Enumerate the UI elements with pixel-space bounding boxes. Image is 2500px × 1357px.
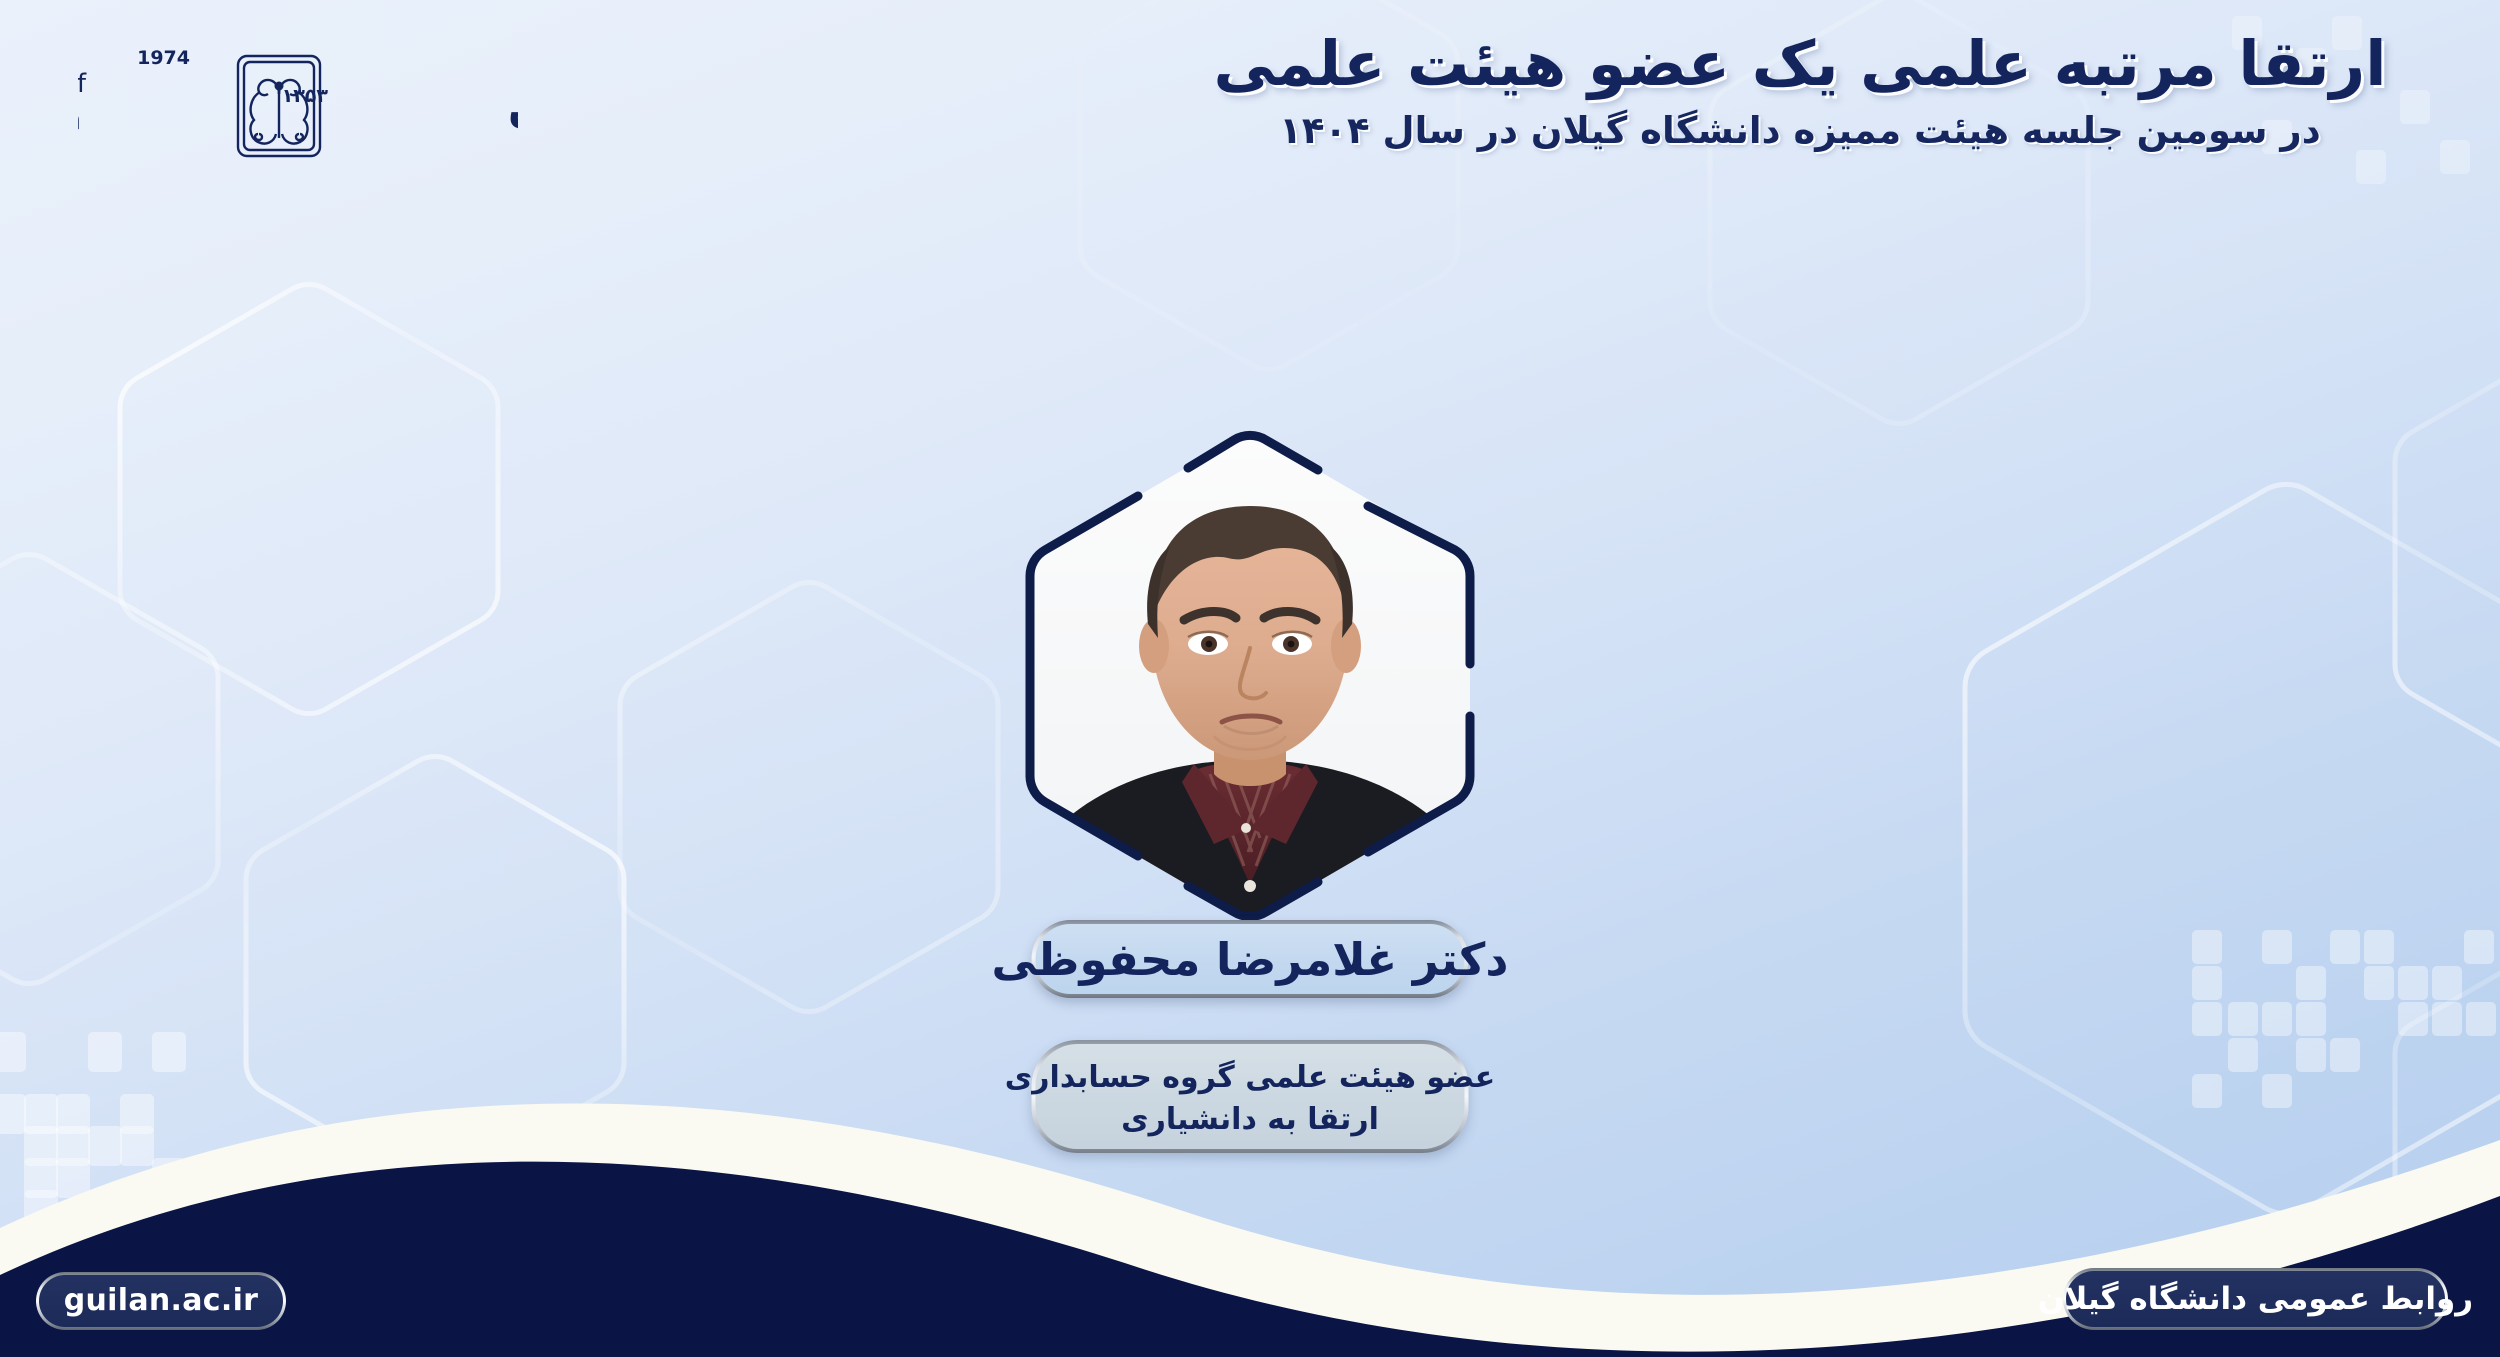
logo-year-latin: 1974	[137, 47, 190, 69]
page-subtitle: در سومین جلسه هیئت ممیزه دانشگاه گیلان د…	[1140, 109, 2460, 153]
public-relations-pill: روابط عمومی دانشگاه گیلان	[2063, 1268, 2448, 1330]
person-name-plate: دکتر غلامرضا محفوظی	[1032, 920, 1469, 998]
header-block: ارتقا مرتبه علمی یک عضو هیئت علمی در سوم…	[1140, 28, 2460, 154]
logo-persian-name: دانشگاه گیلان	[508, 83, 518, 132]
pixel-grid-right	[2192, 930, 2496, 1108]
pixel-grid-left	[0, 1032, 186, 1230]
logo-year-persian: ۱۳۵۳	[282, 85, 329, 107]
portrait-photo	[1018, 424, 1482, 928]
portrait-hexagon	[1018, 424, 1482, 928]
person-role-plate: عضو هیئت علمی گروه حسابداری ارتقا به دان…	[1032, 1040, 1469, 1153]
university-logo: University of Guilan 1974 ۱۳۵۳ دانشگا	[78, 34, 518, 159]
logo-latin-line2: Guilan	[78, 103, 86, 136]
person-name: دکتر غلامرضا محفوظی	[992, 937, 1509, 982]
person-role-line2: ارتقا به دانشیاری	[1121, 1101, 1379, 1139]
logo-latin-line1: University of	[78, 69, 87, 99]
website-url: guilan.ac.ir	[64, 1286, 259, 1316]
person-role-line1: عضو هیئت علمی گروه حسابداری	[1005, 1059, 1495, 1097]
public-relations-label: روابط عمومی دانشگاه گیلان	[2038, 1284, 2473, 1315]
page-title: ارتقا مرتبه علمی یک عضو هیئت علمی	[1140, 28, 2460, 99]
promotion-poster: University of Guilan 1974 ۱۳۵۳ دانشگا	[0, 0, 2500, 1357]
website-pill[interactable]: guilan.ac.ir	[36, 1272, 286, 1330]
